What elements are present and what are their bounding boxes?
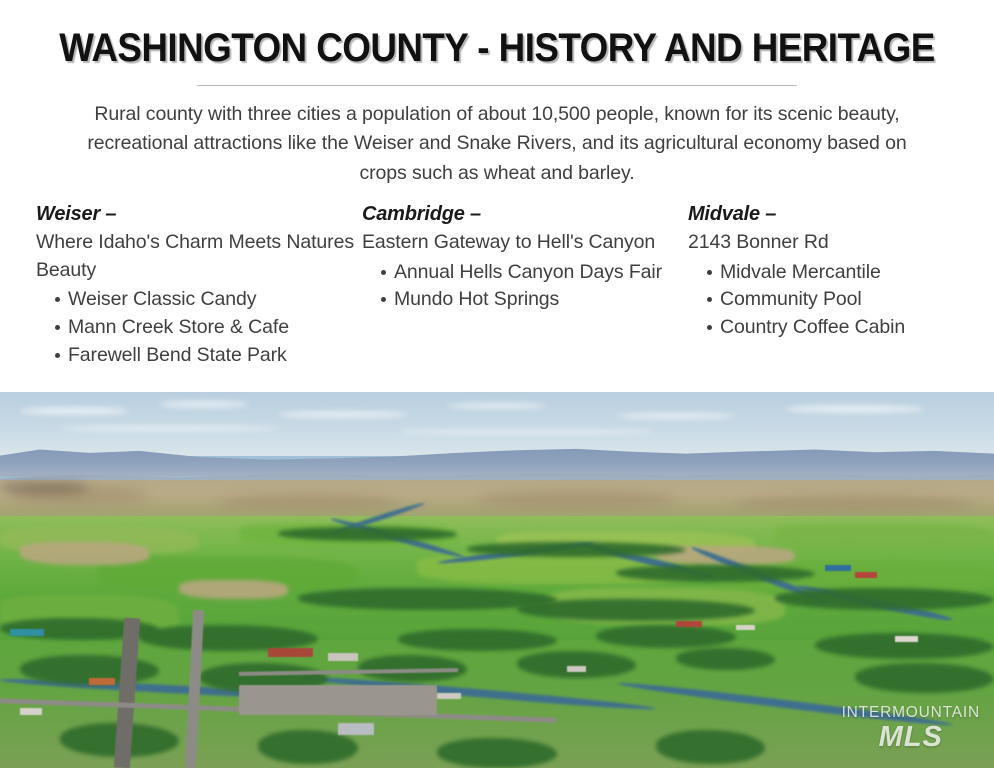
bare-ground-patch	[179, 580, 288, 599]
list-item: Midvale Mercantile	[688, 259, 966, 287]
tree-line	[676, 648, 775, 671]
dry-patch	[0, 482, 89, 493]
tree-line	[517, 651, 636, 677]
tree-line	[656, 730, 765, 764]
dry-patch	[477, 490, 676, 509]
building-roof	[825, 565, 851, 571]
tree-line	[437, 738, 556, 768]
tree-line	[278, 527, 457, 540]
building-roof	[268, 648, 313, 658]
bare-ground-patch	[20, 542, 149, 565]
city-attraction-list: Annual Hells Canyon Days Fair Mundo Hot …	[362, 259, 688, 314]
city-attraction-list: Weiser Classic Candy Mann Creek Store & …	[36, 286, 362, 369]
dry-patch	[219, 494, 398, 511]
cloud-shape	[785, 405, 924, 413]
building-roof	[676, 621, 702, 627]
tree-line	[596, 625, 735, 648]
city-heading: Midvale –	[688, 203, 966, 226]
building-roof	[10, 629, 44, 636]
sky-layer	[0, 392, 994, 456]
city-subtitle: 2143 Bonner Rd	[688, 229, 966, 257]
building-roof	[328, 653, 358, 661]
tree-line	[855, 663, 994, 693]
city-heading: Weiser –	[36, 203, 362, 226]
city-columns: Weiser – Where Idaho's Charm Meets Natur…	[36, 203, 966, 369]
page-title: WASHINGTON COUNTY - HISTORY AND HERITAGE	[40, 26, 954, 71]
title-divider	[197, 85, 797, 86]
aerial-valley-photo: INTERMOUNTAIN MLS	[0, 392, 994, 768]
tree-line	[258, 730, 357, 764]
tree-line	[616, 565, 815, 582]
title-block: WASHINGTON COUNTY - HISTORY AND HERITAGE	[0, 0, 994, 86]
city-column-midvale: Midvale – 2143 Bonner Rd Midvale Mercant…	[688, 203, 966, 369]
building-roof	[736, 625, 756, 630]
building-roof	[89, 678, 115, 686]
list-item: Community Pool	[688, 286, 966, 314]
building-roof	[895, 636, 919, 642]
field-patch	[775, 524, 994, 548]
list-item: Country Coffee Cabin	[688, 314, 966, 342]
list-item: Farewell Bend State Park	[36, 342, 362, 370]
tree-line	[775, 588, 994, 611]
building-roof	[338, 723, 374, 735]
list-item: Mundo Hot Springs	[362, 286, 688, 314]
city-subtitle: Eastern Gateway to Hell's Canyon	[362, 229, 688, 257]
city-subtitle: Where Idaho's Charm Meets Natures Beauty	[36, 229, 362, 284]
cloud-shape	[60, 426, 279, 431]
city-attraction-list: Midvale Mercantile Community Pool Countr…	[688, 259, 966, 342]
list-item: Mann Creek Store & Cafe	[36, 314, 362, 342]
building-roof	[20, 708, 42, 715]
city-column-cambridge: Cambridge – Eastern Gateway to Hell's Ca…	[362, 203, 688, 369]
building-roof	[437, 693, 461, 699]
open-lot	[239, 685, 438, 715]
building-roof	[567, 666, 587, 671]
list-item: Annual Hells Canyon Days Fair	[362, 259, 688, 287]
city-heading: Cambridge –	[362, 203, 688, 226]
building-roof	[855, 572, 877, 577]
intro-paragraph: Rural county with three cities a populat…	[67, 100, 927, 189]
city-column-weiser: Weiser – Where Idaho's Charm Meets Natur…	[36, 203, 362, 369]
slide: WASHINGTON COUNTY - HISTORY AND HERITAGE…	[0, 0, 994, 768]
list-item: Weiser Classic Candy	[36, 286, 362, 314]
